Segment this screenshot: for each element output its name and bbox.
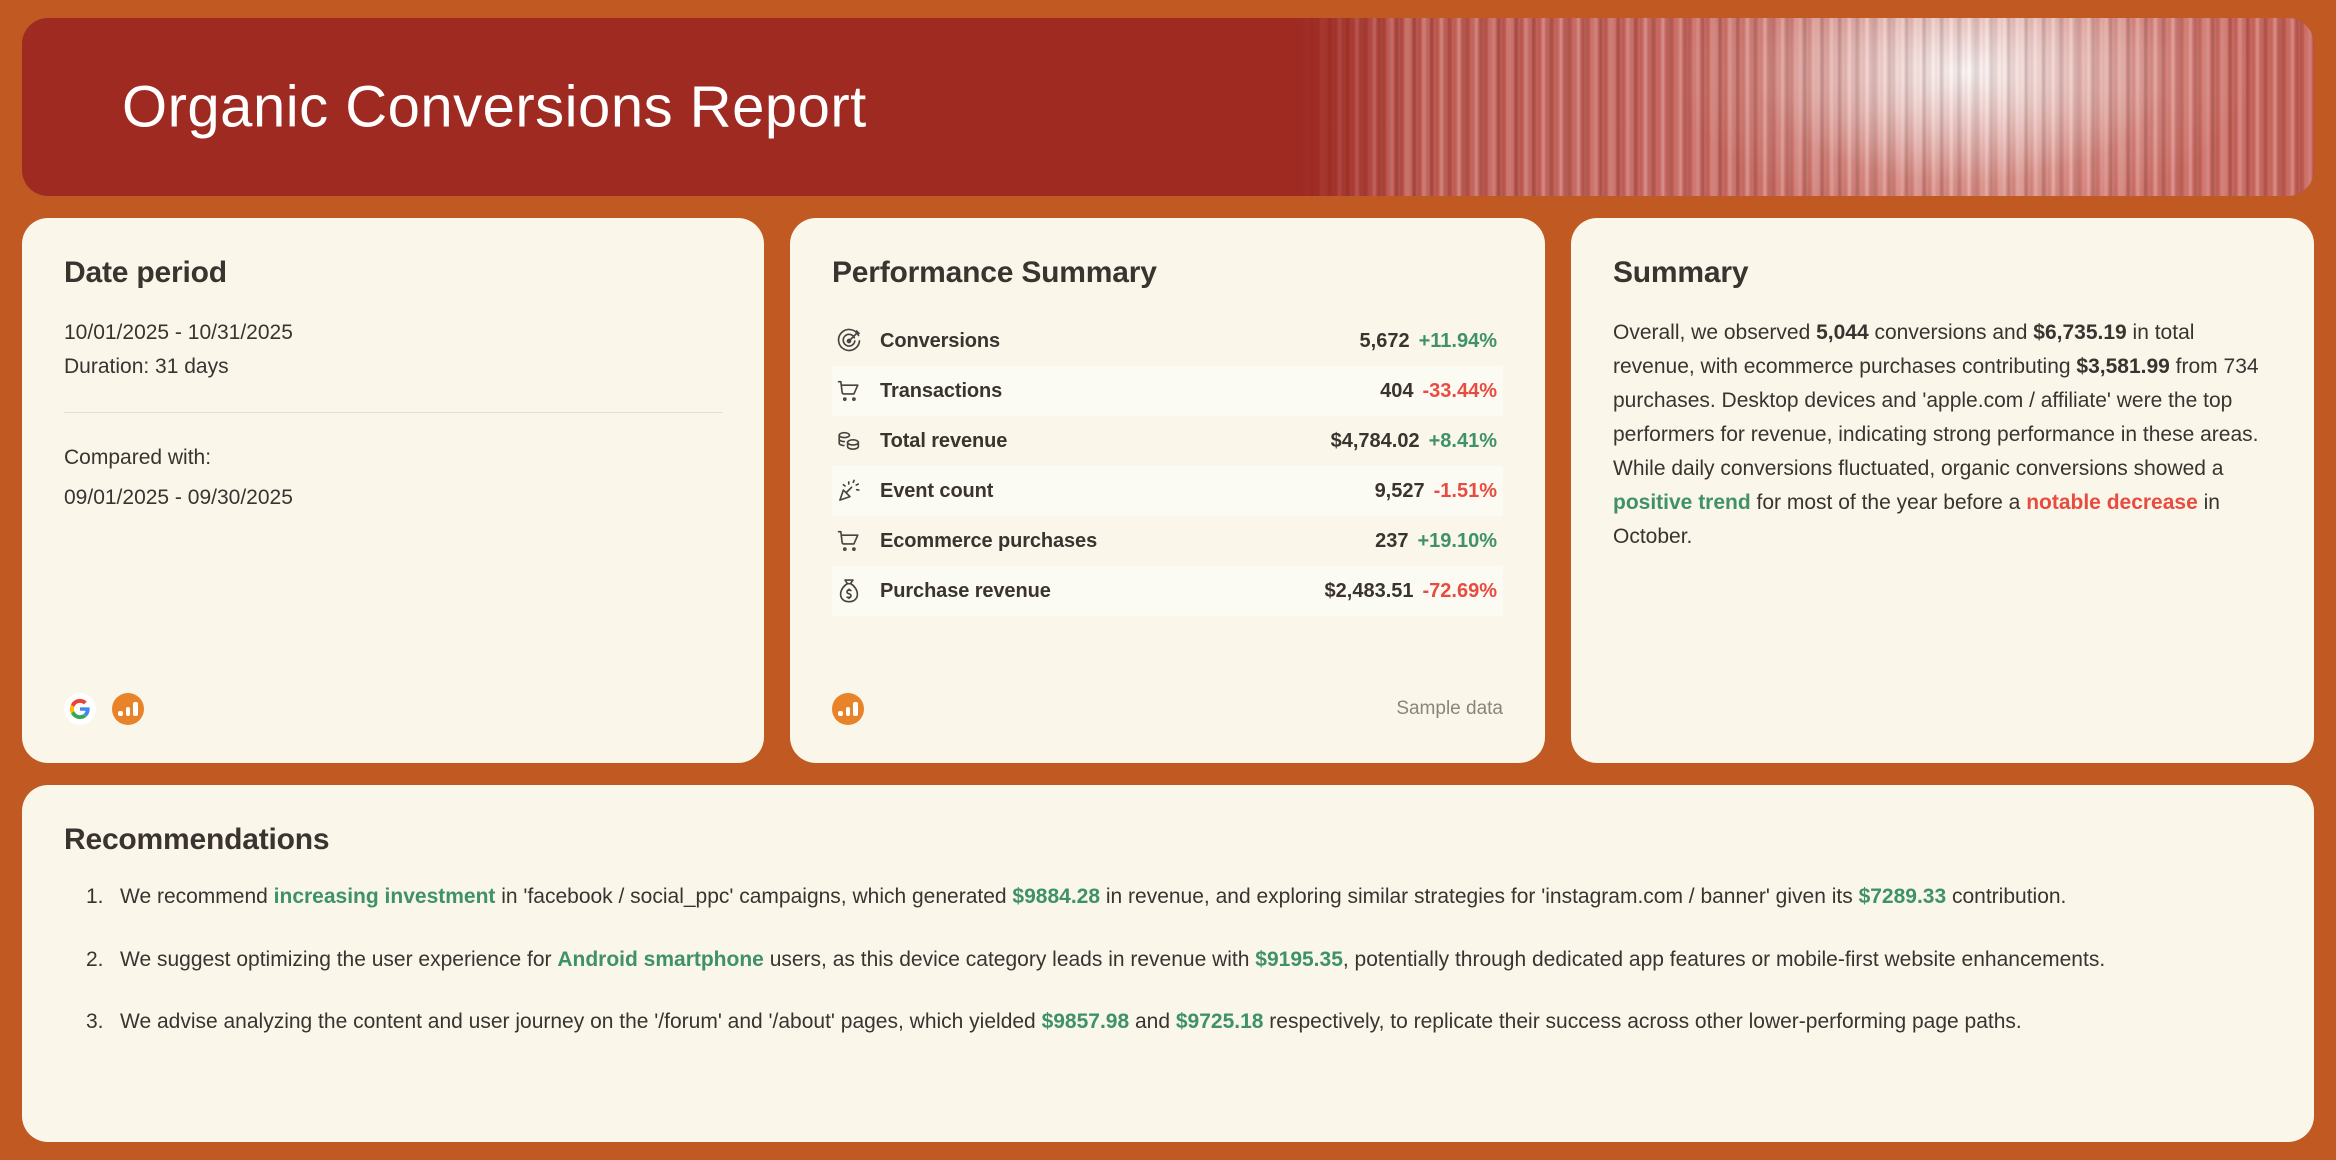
highlight-positive: $9884.28 bbox=[1012, 885, 1100, 908]
metric-delta-badge: -1.51% bbox=[1434, 480, 1497, 503]
recommendations-list: 1.We recommend increasing investment in … bbox=[64, 881, 2272, 1039]
metric-label: Ecommerce purchases bbox=[880, 530, 1097, 553]
highlight-negative: notable decrease bbox=[2026, 491, 2198, 514]
text-run: We advise analyzing the content and user… bbox=[120, 1010, 1042, 1033]
compared-with-label: Compared with: bbox=[64, 441, 722, 475]
brand-logos bbox=[64, 693, 722, 725]
highlight-positive: increasing investment bbox=[274, 885, 496, 908]
party-popper-icon bbox=[834, 476, 864, 506]
summary-title: Summary bbox=[1613, 256, 2272, 290]
recommendation-item: 1.We recommend increasing investment in … bbox=[64, 881, 2272, 914]
recommendations-card: Recommendations 1.We recommend increasin… bbox=[22, 785, 2314, 1142]
ga-bar-1 bbox=[838, 711, 843, 716]
metric-row: Event count9,527-1.51% bbox=[832, 466, 1503, 516]
recommendations-title: Recommendations bbox=[64, 823, 2272, 857]
date-range: 10/01/2025 - 10/31/2025 bbox=[64, 316, 722, 350]
recommendation-text: We advise analyzing the content and user… bbox=[120, 1006, 2272, 1039]
text-run: in revenue, and exploring similar strate… bbox=[1100, 885, 1859, 908]
summary-paragraph: Overall, we observed 5,044 conversions a… bbox=[1613, 316, 2272, 554]
metric-value: 404 bbox=[1380, 380, 1413, 403]
text-run: , potentially through dedicated app feat… bbox=[1343, 948, 2105, 971]
ga-bar-3 bbox=[133, 702, 138, 716]
text-run: in 'facebook / social_ppc' campaigns, wh… bbox=[495, 885, 1012, 908]
metric-value: $2,483.51 bbox=[1325, 580, 1414, 603]
text-run: Overall, we observed bbox=[1613, 321, 1816, 344]
metric-values: 404-33.44% bbox=[1380, 380, 1497, 403]
ga-bar-2 bbox=[846, 707, 851, 716]
highlight-positive: Android smartphone bbox=[557, 948, 764, 971]
recommendation-text: We recommend increasing investment in 'f… bbox=[120, 881, 2272, 914]
metric-label: Conversions bbox=[880, 330, 1000, 353]
date-period-title: Date period bbox=[64, 256, 722, 290]
cart-icon bbox=[834, 526, 864, 556]
text-run: for most of the year before a bbox=[1751, 491, 2026, 514]
ga-bar-3 bbox=[853, 702, 858, 716]
performance-footer: Sample data bbox=[832, 693, 1503, 725]
metric-values: 5,672+11.94% bbox=[1360, 330, 1497, 353]
emphasised-value: $3,581.99 bbox=[2076, 355, 2169, 378]
google-logo-icon bbox=[64, 693, 96, 725]
metric-row: Conversions5,672+11.94% bbox=[832, 316, 1503, 366]
performance-summary-card: Performance Summary Conversions5,672+11.… bbox=[790, 218, 1545, 763]
emphasised-value: 5,044 bbox=[1816, 321, 1869, 344]
metric-label: Total revenue bbox=[880, 430, 1007, 453]
metric-value: 237 bbox=[1375, 530, 1408, 553]
ga-bar-1 bbox=[118, 711, 123, 716]
metric-label: Purchase revenue bbox=[880, 580, 1051, 603]
target-icon bbox=[834, 326, 864, 356]
report-header-banner: Organic Conversions Report bbox=[22, 18, 2314, 196]
text-run: We suggest optimizing the user experienc… bbox=[120, 948, 557, 971]
text-run: respectively, to replicate their success… bbox=[1263, 1010, 2021, 1033]
google-analytics-icon bbox=[832, 693, 864, 725]
metric-delta-badge: -33.44% bbox=[1423, 380, 1498, 403]
metric-row: Ecommerce purchases237+19.10% bbox=[832, 516, 1503, 566]
metric-value: 5,672 bbox=[1360, 330, 1410, 353]
recommendation-item: 2.We suggest optimizing the user experie… bbox=[64, 944, 2272, 977]
summary-card: Summary Overall, we observed 5,044 conve… bbox=[1571, 218, 2314, 763]
page-title: Organic Conversions Report bbox=[122, 74, 867, 141]
google-analytics-icon bbox=[112, 693, 144, 725]
metric-value: $4,784.02 bbox=[1331, 430, 1420, 453]
emphasised-value: $6,735.19 bbox=[2033, 321, 2126, 344]
date-duration: Duration: 31 days bbox=[64, 350, 722, 384]
metric-values: $2,483.51-72.69% bbox=[1325, 580, 1497, 603]
metric-label: Transactions bbox=[880, 380, 1002, 403]
metric-row: Transactions404-33.44% bbox=[832, 366, 1503, 416]
text-run: and bbox=[1129, 1010, 1176, 1033]
metric-delta-badge: +8.41% bbox=[1429, 430, 1497, 453]
metric-values: $4,784.02+8.41% bbox=[1331, 430, 1497, 453]
text-run: contribution. bbox=[1946, 885, 2066, 908]
metric-value: 9,527 bbox=[1375, 480, 1425, 503]
highlight-positive: $9195.35 bbox=[1255, 948, 1343, 971]
recommendation-number: 1. bbox=[86, 881, 120, 914]
metric-label: Event count bbox=[880, 480, 993, 503]
text-run: users, as this device category leads in … bbox=[764, 948, 1255, 971]
recommendation-item: 3.We advise analyzing the content and us… bbox=[64, 1006, 2272, 1039]
highlight-positive: $9725.18 bbox=[1176, 1010, 1264, 1033]
performance-summary-title: Performance Summary bbox=[832, 256, 1503, 290]
deco-stripes-fine bbox=[1284, 18, 2314, 196]
metric-delta-badge: -72.69% bbox=[1423, 580, 1498, 603]
metric-row: Purchase revenue$2,483.51-72.69% bbox=[832, 566, 1503, 616]
recommendation-text: We suggest optimizing the user experienc… bbox=[120, 944, 2272, 977]
date-period-card: Date period 10/01/2025 - 10/31/2025 Dura… bbox=[22, 218, 764, 763]
text-run: conversions and bbox=[1869, 321, 2034, 344]
highlight-positive: $7289.33 bbox=[1859, 885, 1947, 908]
sample-data-note: Sample data bbox=[1396, 698, 1503, 720]
compared-date-range: 09/01/2025 - 09/30/2025 bbox=[64, 481, 722, 515]
decorative-ribbed-graphic bbox=[1284, 18, 2314, 196]
ga-bar-2 bbox=[126, 707, 131, 716]
coins-icon bbox=[834, 426, 864, 456]
recommendation-number: 3. bbox=[86, 1006, 120, 1039]
highlight-positive: positive trend bbox=[1613, 491, 1751, 514]
metric-values: 237+19.10% bbox=[1375, 530, 1497, 553]
metric-delta-badge: +11.94% bbox=[1419, 330, 1497, 353]
metric-row: Total revenue$4,784.02+8.41% bbox=[832, 416, 1503, 466]
money-bag-icon bbox=[834, 576, 864, 606]
metric-delta-badge: +19.10% bbox=[1417, 530, 1497, 553]
highlight-positive: $9857.98 bbox=[1042, 1010, 1130, 1033]
cart-icon bbox=[834, 376, 864, 406]
recommendation-number: 2. bbox=[86, 944, 120, 977]
metrics-list: Conversions5,672+11.94%Transactions404-3… bbox=[832, 316, 1503, 616]
divider bbox=[64, 412, 722, 413]
deco-left-fade bbox=[1284, 18, 1404, 196]
text-run: We recommend bbox=[120, 885, 274, 908]
top-cards-row: Date period 10/01/2025 - 10/31/2025 Dura… bbox=[22, 218, 2314, 763]
metric-values: 9,527-1.51% bbox=[1375, 480, 1497, 503]
